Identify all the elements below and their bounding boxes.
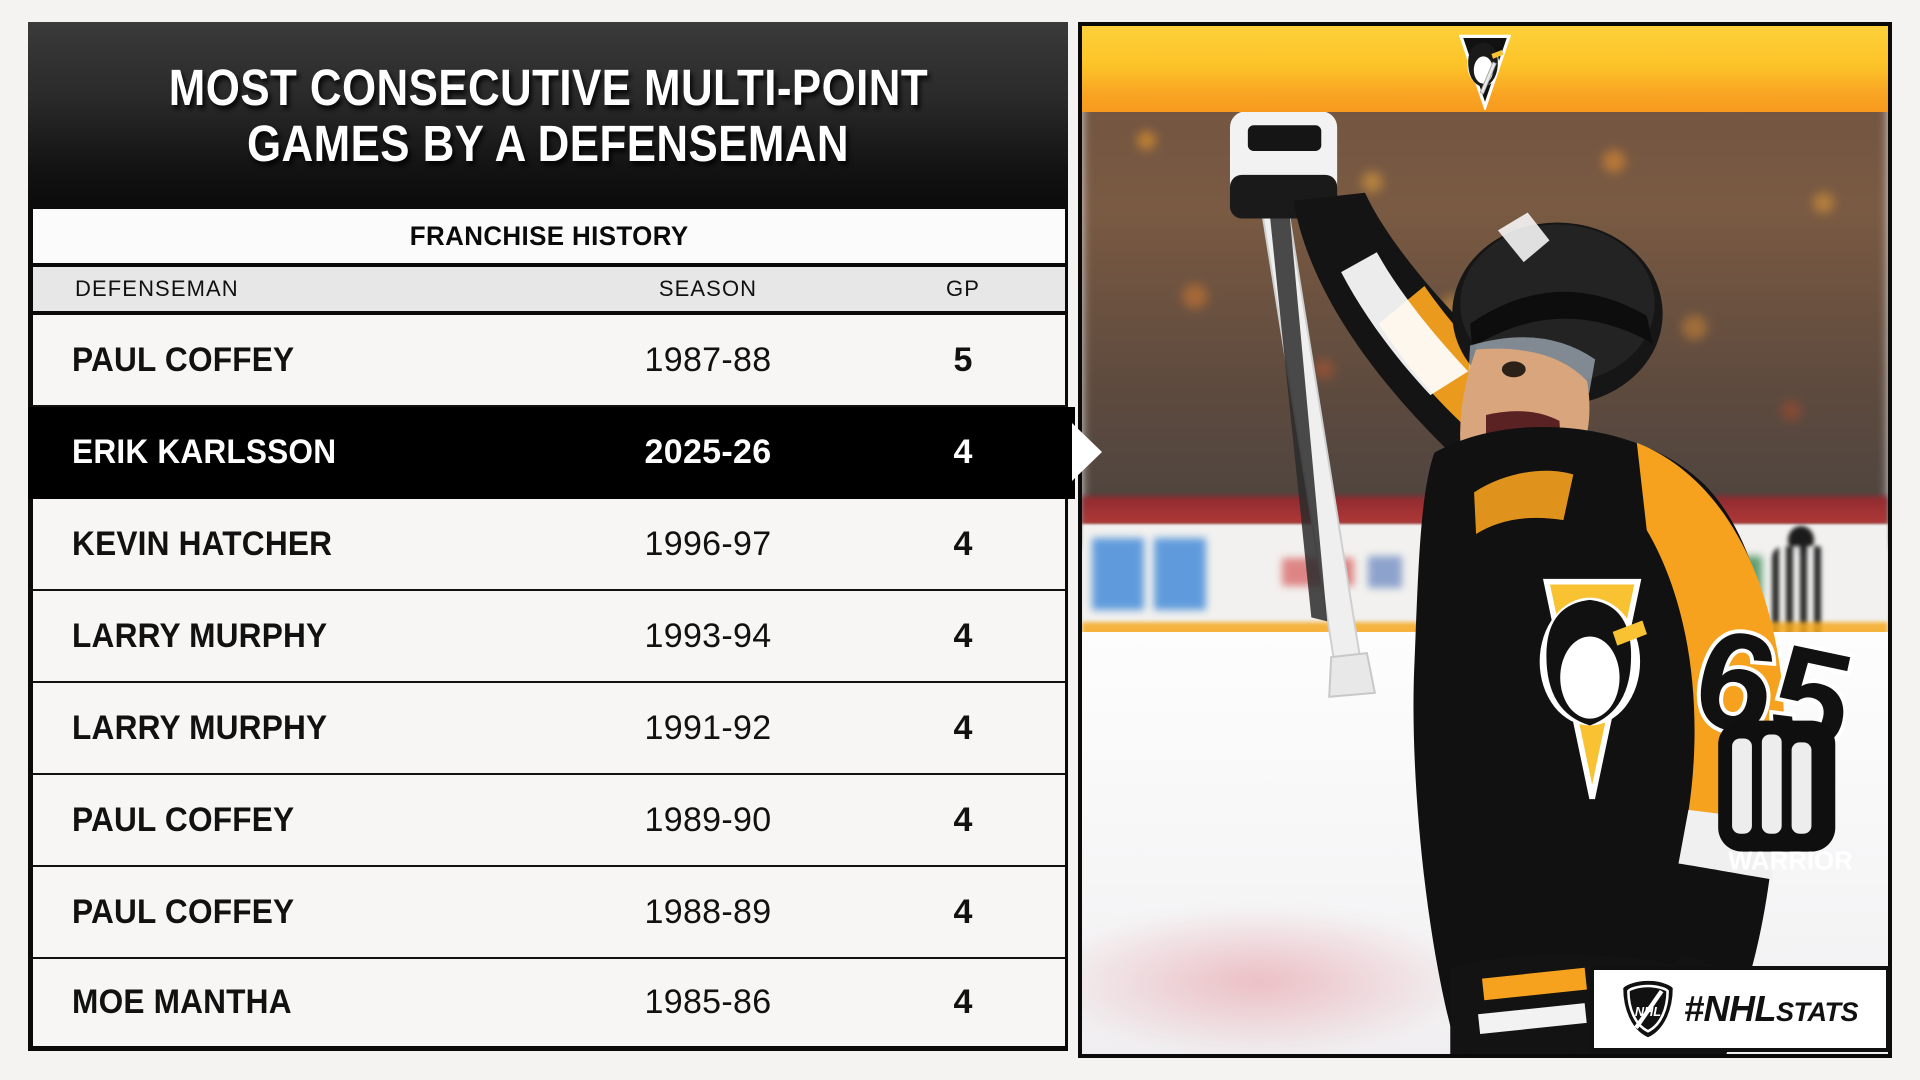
nhl-shield-icon: NHL [1622, 980, 1674, 1038]
cell-season: 1988-89 [553, 893, 863, 932]
cell-defenseman: LARRY MURPHY [33, 709, 517, 748]
player-figure: 65 WARRIOR [1082, 26, 1888, 1054]
cell-defenseman: PAUL COFFEY [33, 893, 517, 932]
cell-gp: 5 [863, 341, 1063, 380]
table-row: PAUL COFFEY1988-894 [28, 867, 1068, 959]
subtitle-bar: FRANCHISE HISTORY [28, 209, 1068, 267]
row-pointer-arrow-icon [1072, 423, 1102, 481]
stats-panel: MOST CONSECUTIVE MULTI-POINT GAMES BY A … [28, 22, 1068, 1058]
cell-season: 1987-88 [553, 341, 863, 380]
hashtag-nhl: #NHL [1684, 988, 1776, 1029]
cell-defenseman: MOE MANTHA [33, 983, 517, 1022]
cell-season: 1996-97 [553, 525, 863, 564]
title-line-1: MOST CONSECUTIVE MULTI-POINT [168, 60, 927, 116]
cell-defenseman: LARRY MURPHY [33, 617, 517, 656]
svg-text:NHL: NHL [1635, 1004, 1661, 1019]
glove-brand: WARRIOR [1728, 847, 1853, 875]
stats-s: S [1776, 997, 1794, 1027]
cell-gp: 4 [863, 893, 1063, 932]
stats-rest: TATS [1794, 997, 1859, 1027]
cell-defenseman: PAUL COFFEY [33, 801, 517, 840]
cell-season: 1989-90 [553, 801, 863, 840]
cell-defenseman: ERIK KARLSSON [33, 433, 517, 472]
table-row: MOE MANTHA1985-864 [28, 959, 1068, 1051]
column-header-season: SEASON [553, 276, 863, 302]
cell-season: 1993-94 [553, 617, 863, 656]
cell-gp: 4 [863, 433, 1063, 472]
cell-gp: 4 [863, 801, 1063, 840]
title-bar: MOST CONSECUTIVE MULTI-POINT GAMES BY A … [28, 22, 1068, 209]
player-photo: 65 WARRIOR [1082, 26, 1888, 1054]
table-row: LARRY MURPHY1993-944 [28, 591, 1068, 683]
cell-season: 2025-26 [553, 433, 863, 472]
subtitle-text: FRANCHISE HISTORY [410, 221, 689, 252]
title-line-2: GAMES BY A DEFENSEMAN [247, 116, 849, 172]
table-header-row: DEFENSEMAN SEASON GP [28, 267, 1068, 315]
cell-gp: 4 [863, 617, 1063, 656]
table-row: PAUL COFFEY1989-904 [28, 775, 1068, 867]
cell-season: 1991-92 [553, 709, 863, 748]
cell-gp: 4 [863, 983, 1063, 1022]
nhl-stats-graphic: MOST CONSECUTIVE MULTI-POINT GAMES BY A … [0, 0, 1920, 1080]
pittsburgh-penguins-logo [1445, 30, 1525, 110]
table-row: PAUL COFFEY1987-885 [28, 315, 1068, 407]
column-header-defenseman: DEFENSEMAN [33, 276, 553, 302]
team-header-strip [1082, 26, 1888, 112]
nhl-stats-badge: NHL #NHLSTATS [1590, 966, 1890, 1052]
table-body: PAUL COFFEY1987-885ERIK KARLSSON2025-264… [28, 315, 1068, 1051]
cell-season: 1985-86 [553, 983, 863, 1022]
cell-defenseman: KEVIN HATCHER [33, 525, 517, 564]
table-row: KEVIN HATCHER1996-974 [28, 499, 1068, 591]
player-photo-panel: 65 WARRIOR [1078, 22, 1892, 1058]
nhl-stats-wordmark: #NHLSTATS [1684, 988, 1858, 1030]
cell-gp: 4 [863, 525, 1063, 564]
column-header-gp: GP [863, 276, 1063, 302]
cell-defenseman: PAUL COFFEY [33, 341, 517, 380]
glove-lower: WARRIOR [1718, 721, 1853, 876]
table-row-highlighted: ERIK KARLSSON2025-264 [28, 407, 1075, 499]
cell-gp: 4 [863, 709, 1063, 748]
table-row: LARRY MURPHY1991-924 [28, 683, 1068, 775]
